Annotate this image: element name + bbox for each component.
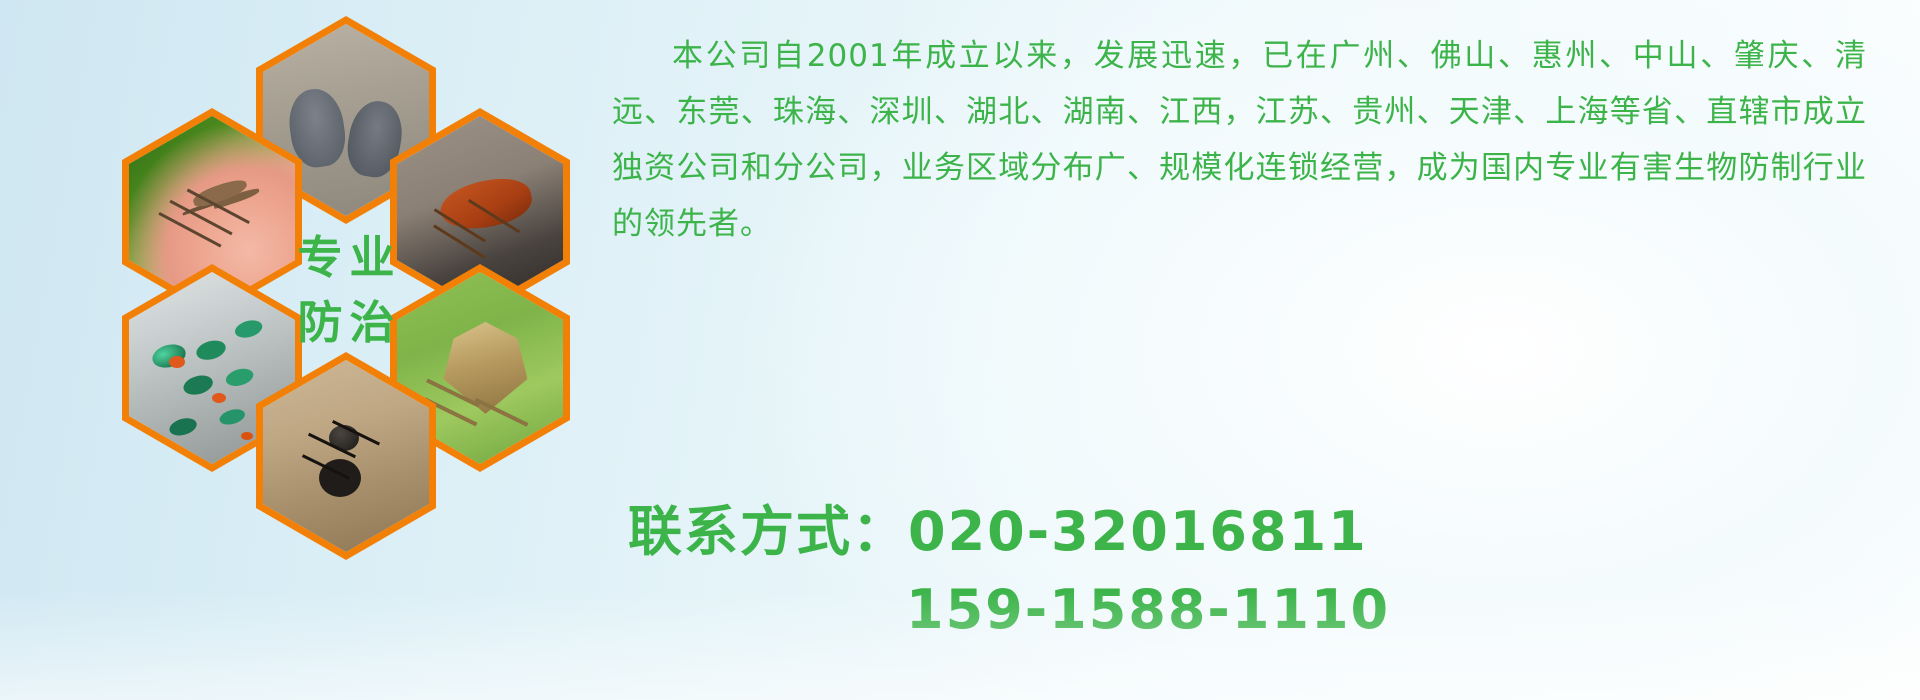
center-label-line1: 专业 [290, 225, 401, 290]
contact-block: 联系方式：020-32016811 159-1588-1110 [628, 493, 1858, 649]
contact-secondary-line[interactable]: 159-1588-1110 [628, 571, 1858, 649]
center-label-line2: 防治 [290, 290, 401, 355]
contact-primary-line[interactable]: 联系方式：020-32016811 [628, 493, 1858, 571]
promo-banner: 专业 防治 本公司自2001年成立以来，发展迅速，已在广州、佛山、惠州、中山、肇… [0, 0, 1920, 700]
intro-text-block: 本公司自2001年成立以来，发展迅速，已在广州、佛山、惠州、中山、肇庆、清远、东… [612, 28, 1867, 252]
honeycomb-cluster: 专业 防治 [96, 0, 596, 570]
intro-paragraph: 本公司自2001年成立以来，发展迅速，已在广州、佛山、惠州、中山、肇庆、清远、东… [612, 28, 1867, 252]
